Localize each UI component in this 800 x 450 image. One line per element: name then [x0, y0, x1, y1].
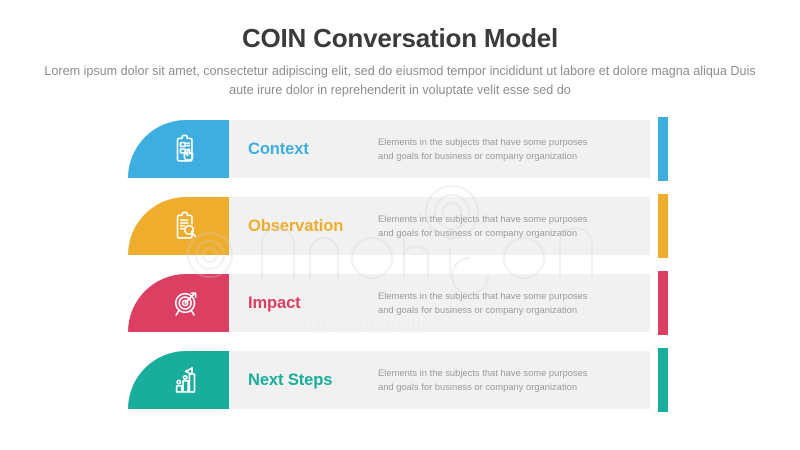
row-title: Observation [248, 197, 343, 255]
row-description-line-2: and goals for business or company organi… [378, 380, 633, 394]
row-description-line-2: and goals for business or company organi… [378, 149, 633, 163]
row-title: Next Steps [248, 351, 332, 409]
list-item[interactable]: Observation Elements in the subjects tha… [128, 197, 676, 255]
list-item[interactable]: Context Elements in the subjects that ha… [128, 120, 676, 178]
row-title: Context [248, 120, 309, 178]
row-accent-bar [658, 194, 668, 258]
clipboard-search-icon [169, 209, 203, 243]
coin-rows-list: Context Elements in the subjects that ha… [128, 120, 676, 409]
row-description: Elements in the subjects that have some … [378, 274, 633, 332]
row-icon-block [128, 351, 229, 409]
clipboard-hand-icon [169, 132, 203, 166]
row-icon-block [128, 274, 229, 332]
list-item[interactable]: Impact Elements in the subjects that hav… [128, 274, 676, 332]
row-description-line-1: Elements in the subjects that have some … [378, 135, 633, 149]
row-description-line-2: and goals for business or company organi… [378, 303, 633, 317]
row-accent-bar [658, 117, 668, 181]
row-description: Elements in the subjects that have some … [378, 351, 633, 409]
row-icon-block [128, 197, 229, 255]
page-title: COIN Conversation Model [0, 22, 800, 55]
row-accent-bar [658, 271, 668, 335]
row-description: Elements in the subjects that have some … [378, 197, 633, 255]
list-item[interactable]: Next Steps Elements in the subjects that… [128, 351, 676, 409]
row-description-line-1: Elements in the subjects that have some … [378, 366, 633, 380]
row-icon-block [128, 120, 229, 178]
infographic-slide: COIN Conversation Model Lorem ipsum dolo… [0, 0, 800, 450]
row-description-line-1: Elements in the subjects that have some … [378, 212, 633, 226]
row-description-line-2: and goals for business or company organi… [378, 226, 633, 240]
bar-chart-flag-icon [169, 363, 203, 397]
row-title: Impact [248, 274, 301, 332]
target-arrow-icon [169, 286, 203, 320]
row-description: Elements in the subjects that have some … [378, 120, 633, 178]
page-subtitle: Lorem ipsum dolor sit amet, consectetur … [36, 62, 764, 101]
slide-header: COIN Conversation Model Lorem ipsum dolo… [0, 22, 800, 101]
row-description-line-1: Elements in the subjects that have some … [378, 289, 633, 303]
row-accent-bar [658, 348, 668, 412]
